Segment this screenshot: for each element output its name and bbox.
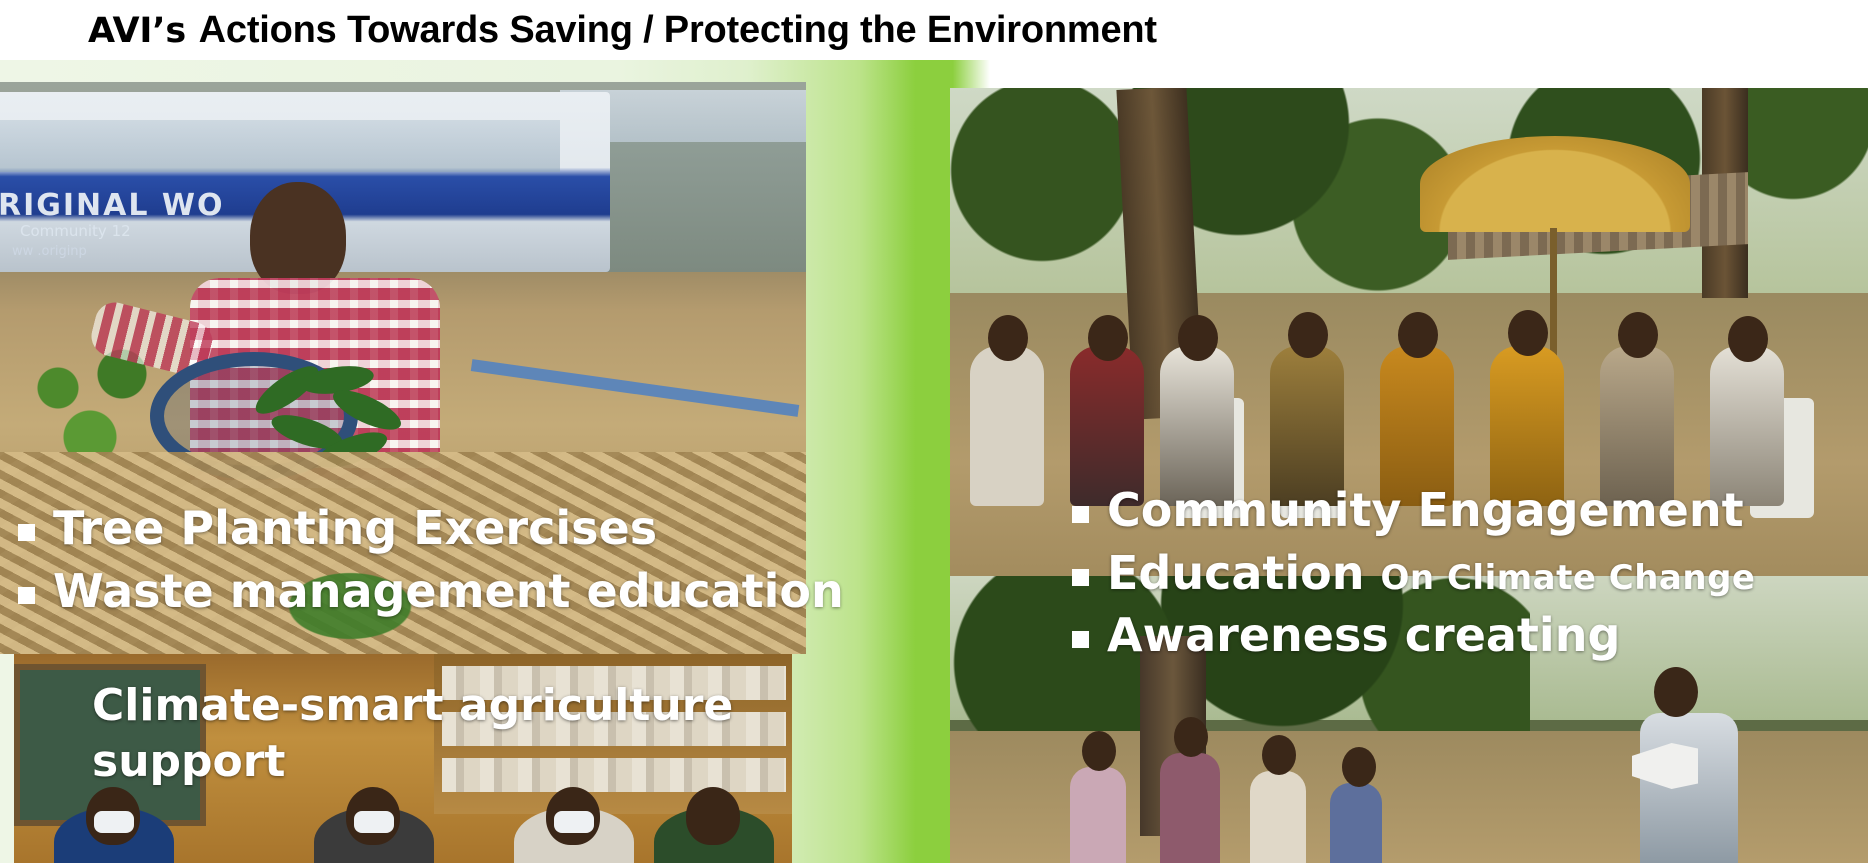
community-member: [1160, 753, 1220, 863]
community-member: [1250, 771, 1306, 863]
person-head: [1654, 667, 1698, 717]
bus-livery-text: RIGINAL WO: [0, 188, 225, 223]
person-head: [1508, 310, 1548, 356]
bullet-label-suffix: On Climate Change: [1381, 558, 1756, 598]
climate-smart-caption: Climate-smart agriculture support: [92, 678, 733, 791]
seated-elder: [970, 346, 1044, 506]
left-bullet-list: Tree Planting Exercises Waste management…: [18, 498, 844, 623]
climate-smart-line-1: Climate-smart agriculture: [92, 678, 733, 734]
bus-window: [0, 120, 560, 172]
title-lead-text: AVI’s: [88, 11, 186, 51]
umbrella-pole: [1550, 228, 1557, 358]
list-item: Community Engagement: [1072, 480, 1755, 541]
bullet-square-icon: [1072, 569, 1089, 586]
list-item: Awareness creating: [1072, 605, 1755, 666]
participant-head: [686, 787, 740, 845]
bullet-label: Community Engagement: [1107, 480, 1744, 541]
person-head: [1088, 315, 1128, 361]
bullet-label: Awareness creating: [1107, 605, 1620, 666]
list-item: Waste management education: [18, 561, 844, 622]
bus-livery-subtext-2: ww .originp: [12, 244, 87, 259]
person-head: [1398, 312, 1438, 358]
bullet-square-icon: [1072, 631, 1089, 648]
background-shed: [600, 142, 806, 272]
bullet-square-icon: [18, 524, 35, 541]
person-head: [1288, 312, 1328, 358]
person-head: [1082, 731, 1116, 771]
bullet-square-icon: [1072, 506, 1089, 523]
person-head: [1618, 312, 1658, 358]
bullet-label: Education: [1107, 546, 1365, 600]
person-head: [1728, 316, 1768, 362]
list-item: Education On Climate Change: [1072, 543, 1755, 604]
community-member: [1070, 767, 1126, 863]
slide-title-bar: AVI’s Actions Towards Saving / Protectin…: [0, 0, 1868, 60]
bullet-label-group: Education On Climate Change: [1107, 543, 1755, 604]
person-head: [1262, 735, 1296, 775]
list-item: Tree Planting Exercises: [18, 498, 844, 559]
page-title: AVI’s Actions Towards Saving / Protectin…: [88, 8, 1157, 52]
title-main-text: Actions Towards Saving / Protecting the …: [199, 9, 1157, 51]
tree-foliage: [950, 88, 1490, 308]
climate-smart-line-2: support: [92, 734, 733, 790]
bus-livery-subtext: Community 12: [20, 222, 131, 240]
bullet-label: Waste management education: [53, 561, 844, 622]
bullet-label: Tree Planting Exercises: [53, 498, 657, 559]
person-head: [1174, 717, 1208, 757]
slide: AVI’s Actions Towards Saving / Protectin…: [0, 0, 1868, 863]
person-head: [1178, 315, 1218, 361]
person-head: [988, 315, 1028, 361]
face-mask: [554, 811, 594, 833]
bullet-square-icon: [18, 587, 35, 604]
leaf-icon: [328, 383, 406, 438]
face-mask: [94, 811, 134, 833]
community-member: [1330, 783, 1382, 863]
ceremonial-umbrella: [1420, 136, 1690, 232]
person-head: [1342, 747, 1376, 787]
right-bullet-list: Community Engagement Education On Climat…: [1072, 480, 1755, 668]
face-mask: [354, 811, 394, 833]
speaker-person: [1640, 713, 1738, 863]
